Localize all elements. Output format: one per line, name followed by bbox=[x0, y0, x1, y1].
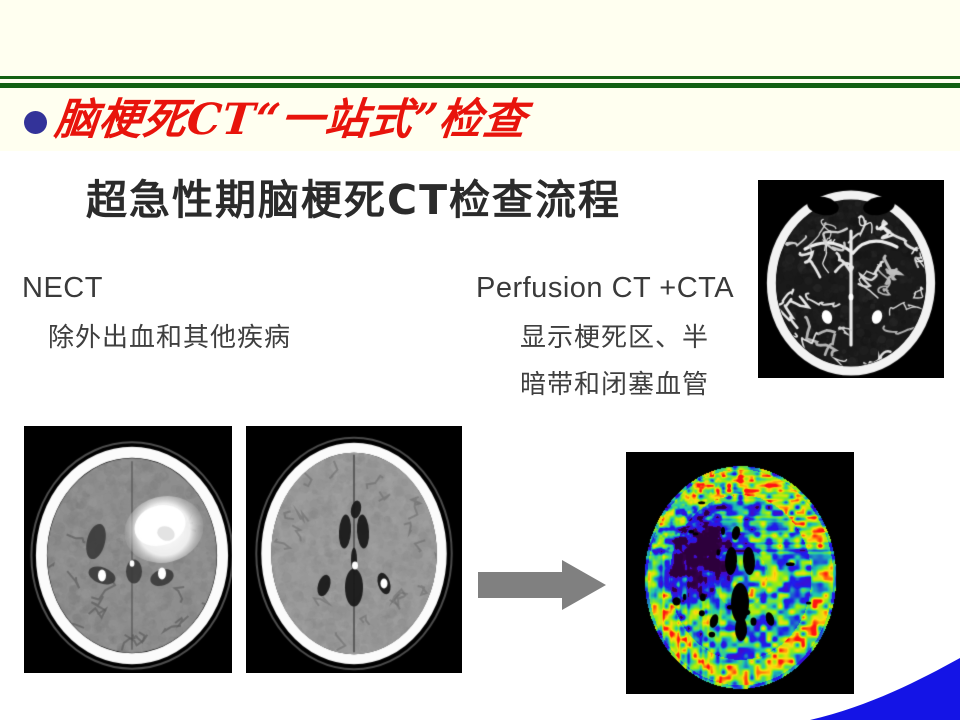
cta-angiography-image bbox=[758, 180, 944, 378]
protocol-title-perfusion-cta: Perfusion CT +CTA bbox=[476, 272, 734, 305]
presentation-slide: 脑梗死CT“一站式”检查 超急性期脑梗死CT检查流程 NECT 除外出血和其他疾… bbox=[0, 0, 960, 720]
protocol-block-nect: NECT 除外出血和其他疾病 bbox=[22, 272, 291, 354]
nect-hemorrhage-image bbox=[24, 426, 232, 673]
header-rule-top bbox=[0, 76, 960, 79]
bullet-dot-icon bbox=[24, 111, 47, 134]
slide-header-band: 脑梗死CT“一站式”检查 bbox=[0, 0, 960, 151]
flow-arrow-icon bbox=[478, 558, 606, 612]
nect-normal-image bbox=[246, 426, 462, 673]
protocol-title-nect: NECT bbox=[22, 272, 291, 305]
slide-title-row: 脑梗死CT“一站式”检查 bbox=[24, 93, 924, 147]
slide-title: 脑梗死CT“一站式”检查 bbox=[53, 99, 529, 142]
flow-diagram-heading: 超急性期脑梗死CT检查流程 bbox=[86, 166, 621, 226]
protocol-line-perfusion-1: 暗带和闭塞血管 bbox=[520, 364, 734, 401]
protocol-block-perfusion-cta: Perfusion CT +CTA 显示梗死区、半 暗带和闭塞血管 bbox=[476, 272, 734, 401]
protocol-line-nect-0: 除外出血和其他疾病 bbox=[48, 317, 291, 354]
protocol-line-perfusion-0: 显示梗死区、半 bbox=[520, 317, 734, 354]
header-rule-bottom bbox=[0, 83, 960, 88]
ct-perfusion-map-image bbox=[626, 452, 854, 694]
